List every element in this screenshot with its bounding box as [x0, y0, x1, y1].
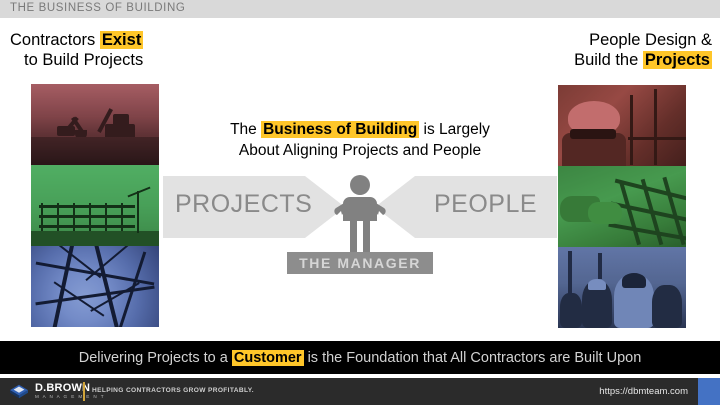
photo-transmission-towers [31, 246, 159, 327]
photo-tint-blue [558, 247, 686, 328]
photo-crew-from-behind [558, 247, 686, 328]
headline-left-line1-text: Contractors [10, 31, 100, 49]
manager-badge-label: THE MANAGER [299, 255, 421, 271]
footer-divider [83, 382, 85, 401]
dbrown-diamond-icon [8, 382, 30, 400]
center-statement-highlight: Business of Building [261, 121, 419, 138]
bottom-banner-post: is the Foundation that All Contractors a… [304, 350, 642, 366]
photo-column-left [31, 84, 159, 327]
headline-right-line2: Build the Projects [574, 50, 712, 70]
headline-left: Contractors Exist to Build Projects [10, 30, 143, 70]
footer-tagline: HELPING CONTRACTORS GROW PROFITABLY. [92, 387, 254, 394]
headline-right: People Design & Build the Projects [574, 30, 712, 70]
photo-excavator-digging [31, 84, 159, 165]
photo-rebar-tying [558, 166, 686, 247]
headline-right-line1: People Design & [574, 30, 712, 50]
photo-tint-green [31, 165, 159, 246]
center-statement: The Business of Building is Largely Abou… [170, 119, 550, 161]
headline-left-line2: to Build Projects [10, 50, 143, 70]
center-statement-line2: About Aligning Projects and People [170, 140, 550, 161]
person-arms-open-icon [334, 175, 385, 252]
bottom-banner-text: Delivering Projects to a Customer is the… [79, 350, 642, 366]
footer-bar: D.BROWN M A N A G E M E N T HELPING CONT… [0, 378, 720, 405]
photo-tint-green [558, 166, 686, 247]
photo-steel-frame-site [31, 165, 159, 246]
manager-badge: THE MANAGER [287, 252, 433, 274]
people-arrow-label: PEOPLE [434, 190, 537, 219]
projects-arrow-label: PROJECTS [175, 190, 312, 219]
center-statement-line1-post: is Largely [419, 121, 490, 138]
photo-tint-pink [558, 85, 686, 166]
brand-subname: M A N A G E M E N T [35, 395, 105, 400]
center-statement-line1-pre: The [230, 121, 261, 138]
photo-worker-hardhat [558, 85, 686, 166]
brand-logo[interactable]: D.BROWN M A N A G E M E N T [8, 382, 105, 400]
headline-left-line1: Contractors Exist [10, 30, 143, 50]
photo-tint-blue [31, 246, 159, 327]
photo-tint-pink [31, 84, 159, 165]
bottom-banner-pre: Delivering Projects to a [79, 350, 232, 366]
slide-canvas: THE BUSINESS OF BUILDING Contractors Exi… [0, 0, 720, 405]
footer-url[interactable]: https://dbmteam.com [599, 386, 688, 397]
headline-right-line2-text: Build the [574, 51, 643, 69]
bottom-banner-highlight: Customer [232, 350, 304, 366]
bottom-banner: Delivering Projects to a Customer is the… [0, 341, 720, 374]
headline-right-highlight: Projects [643, 51, 712, 69]
page-title: THE BUSINESS OF BUILDING [10, 2, 185, 14]
headline-left-highlight: Exist [100, 31, 143, 49]
footer-accent-block [698, 378, 720, 405]
center-statement-line1: The Business of Building is Largely [170, 119, 550, 140]
photo-column-right [558, 85, 686, 328]
